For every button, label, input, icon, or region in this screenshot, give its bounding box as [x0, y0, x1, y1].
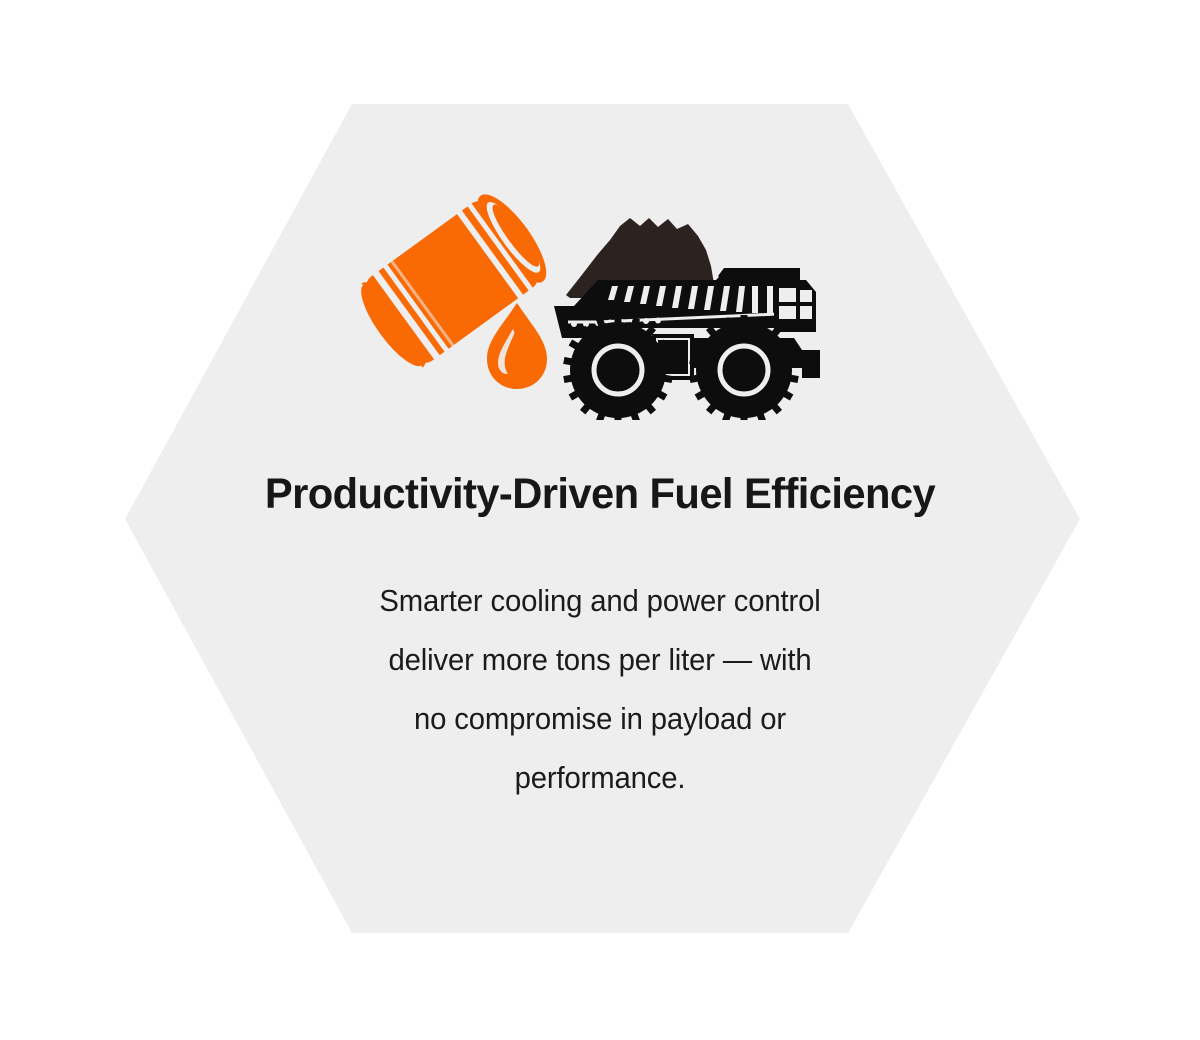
infographic-card: Productivity-Driven Fuel Efficiency Smar…: [0, 0, 1200, 1040]
icon-cluster: [360, 190, 820, 420]
description-line-4: performance.: [158, 749, 1041, 808]
card-description: Smarter cooling and power control delive…: [158, 522, 1041, 808]
page-title: Productivity-Driven Fuel Efficiency: [154, 466, 1046, 522]
mining-dump-truck-icon: [554, 218, 820, 420]
card-text-block: Productivity-Driven Fuel Efficiency Smar…: [140, 466, 1060, 808]
oil-drop-icon: [487, 303, 547, 389]
icon-cluster-svg: [360, 190, 820, 420]
description-line-1: Smarter cooling and power control: [158, 572, 1041, 631]
description-line-3: no compromise in payload or: [158, 690, 1041, 749]
description-line-2: deliver more tons per liter — with: [158, 631, 1041, 690]
